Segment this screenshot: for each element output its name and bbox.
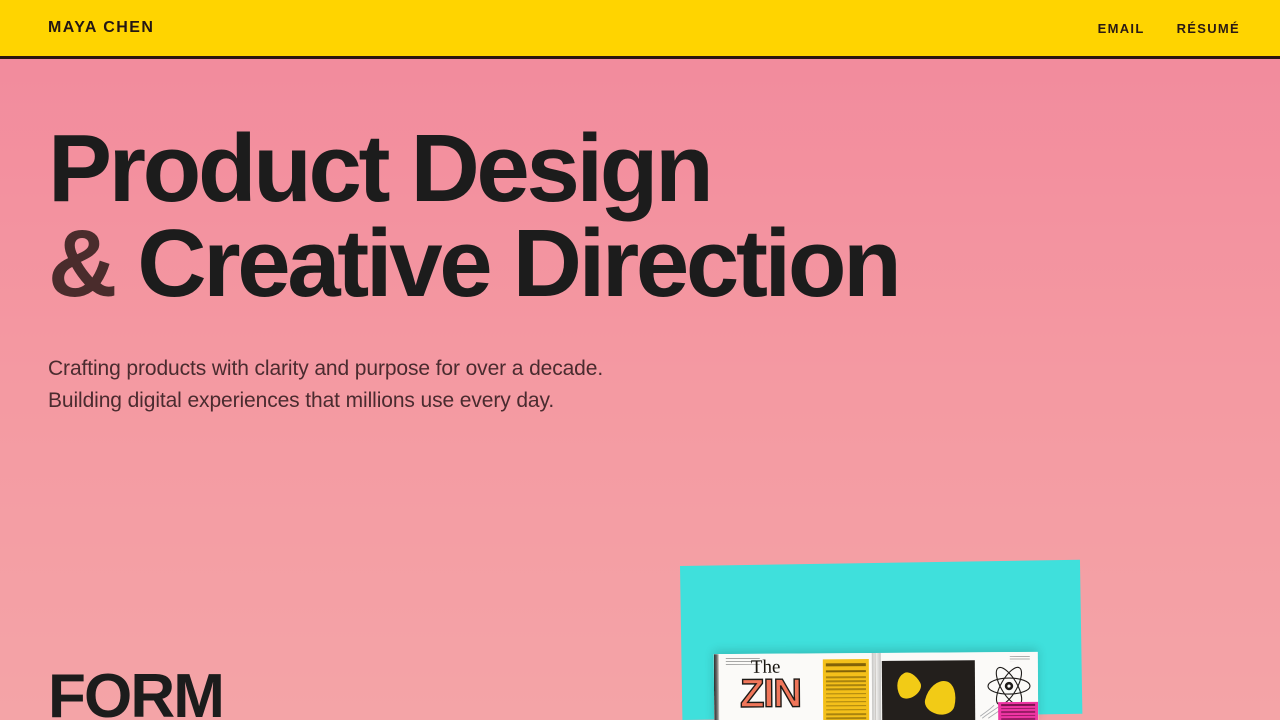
nav-link-resume[interactable]: RÉSUMÉ — [1177, 21, 1240, 36]
site-header: MAYA CHEN EMAIL RÉSUMÉ — [0, 0, 1280, 59]
magazine-yellow-column — [823, 659, 869, 720]
hero-subtitle: Crafting products with clarity and purpo… — [48, 353, 1232, 417]
primary-nav: EMAIL RÉSUMÉ — [1098, 21, 1240, 36]
open-magazine: The ZIN — [714, 652, 1038, 720]
ampersand-glyph: & — [48, 210, 114, 317]
yellow-droplet-icon — [891, 669, 924, 702]
magazine-right-page — [876, 652, 1038, 720]
hero-title-line-2: & Creative Direction — [48, 216, 1232, 311]
hero-subtitle-line-2: Building digital experiences that millio… — [48, 385, 1232, 417]
next-section-title: FORM — [48, 666, 223, 720]
hero-title-line-1: Product Design — [48, 121, 1232, 216]
magazine-pink-sticky-note — [998, 702, 1038, 720]
magazine-zin-text: ZIN — [740, 676, 801, 712]
brand-wordmark[interactable]: MAYA CHEN — [48, 19, 154, 37]
magazine-folio-lines — [1010, 656, 1030, 661]
yellow-droplet-icon — [922, 677, 959, 717]
atom-diagram-icon — [986, 666, 1032, 706]
magazine-dark-panel — [882, 660, 975, 720]
hero-section: Product Design & Creative Direction Craf… — [0, 59, 1280, 417]
page-title: Product Design & Creative Direction — [48, 121, 1232, 311]
next-section-peek: FORM — [48, 666, 223, 720]
magazine-left-page: The ZIN — [714, 653, 876, 720]
hero-artwork: The ZIN — [672, 560, 1092, 720]
hero-title-line-2-text: Creative Direction — [137, 210, 898, 317]
magazine-gutter-shadow — [871, 653, 880, 720]
nav-link-email[interactable]: EMAIL — [1098, 21, 1145, 36]
hero-subtitle-line-1: Crafting products with clarity and purpo… — [48, 353, 1232, 385]
